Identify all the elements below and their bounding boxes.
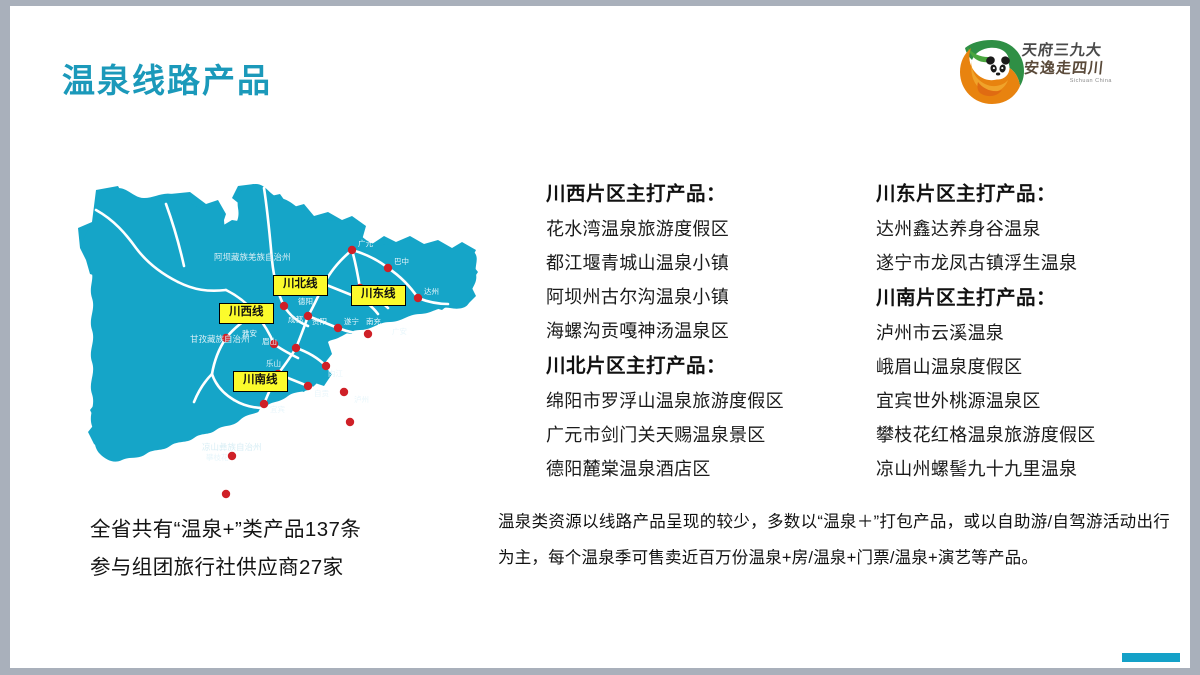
- svg-text:南充: 南充: [366, 316, 381, 326]
- logo-line-2: 安逸走四川: [1021, 59, 1115, 77]
- svg-text:广安: 广安: [392, 326, 407, 336]
- svg-text:眉山: 眉山: [262, 336, 277, 346]
- svg-text:宜宾: 宜宾: [270, 404, 285, 414]
- product-item: 阿坝州古尔沟温泉小镇: [546, 280, 846, 314]
- svg-text:凉山彝族自治州: 凉山彝族自治州: [202, 442, 262, 452]
- svg-text:泸州: 泸州: [354, 394, 369, 404]
- logo-english-text: Sichuan China: [1022, 77, 1114, 85]
- product-item: 遂宁市龙凤古镇浮生温泉: [876, 246, 1176, 280]
- product-lists: 川西片区主打产品： 花水湾温泉旅游度假区 都江堰青城山温泉小镇 阿坝州古尔沟温泉…: [546, 176, 1166, 486]
- panda-swirl-emblem-icon: [958, 38, 1026, 106]
- map-route-label-chuandong[interactable]: 川东线: [351, 285, 406, 306]
- section-heading-chuannan: 川南片区主打产品：: [876, 280, 1176, 316]
- product-item: 花水湾温泉旅游度假区: [546, 212, 846, 246]
- svg-text:达州: 达州: [424, 286, 439, 296]
- svg-text:德阳: 德阳: [298, 296, 313, 306]
- svg-text:成都: 成都: [288, 314, 303, 324]
- svg-text:遂宁: 遂宁: [344, 316, 359, 326]
- map-route-label-chuanxi[interactable]: 川西线: [219, 303, 274, 324]
- svg-text:资阳: 资阳: [312, 316, 327, 326]
- product-item: 海螺沟贡嘎神汤温泉区: [546, 314, 846, 348]
- stat-line-agencies: 参与组团旅行社供应商27家: [90, 549, 490, 587]
- product-item: 宜宾世外桃源温泉区: [876, 384, 1176, 418]
- map-route-label-chuanbei[interactable]: 川北线: [273, 275, 328, 296]
- page-title: 温泉线路产品: [62, 54, 272, 102]
- map-province-shape: [78, 184, 478, 462]
- product-item: 凉山州螺髻九十九里温泉: [876, 452, 1176, 486]
- svg-text:自贡: 自贡: [314, 388, 329, 398]
- product-item: 绵阳市罗浮山温泉旅游度假区: [546, 384, 846, 418]
- svg-text:内江: 内江: [328, 368, 343, 378]
- map-route-label-chuannan[interactable]: 川南线: [233, 371, 288, 392]
- product-item: 德阳麓棠温泉酒店区: [546, 452, 846, 486]
- product-item: 攀枝花红格温泉旅游度假区: [876, 418, 1176, 452]
- svg-text:巴中: 巴中: [394, 256, 409, 266]
- product-item: 达州鑫达养身谷温泉: [876, 212, 1176, 246]
- section-heading-chuandong: 川东片区主打产品：: [876, 176, 1176, 212]
- svg-text:阿坝藏族羌族自治州: 阿坝藏族羌族自治州: [214, 252, 291, 262]
- svg-text:攀枝花: 攀枝花: [206, 452, 229, 462]
- product-item: 泸州市云溪温泉: [876, 316, 1176, 350]
- logo-wordmark: 天府三九大 安逸走四川 Sichuan China: [1022, 42, 1114, 102]
- slide-canvas: 温泉线路产品 天府三九大: [10, 6, 1190, 668]
- brand-logo: 天府三九大 安逸走四川 Sichuan China: [950, 34, 1110, 112]
- svg-text:广元: 广元: [358, 238, 373, 248]
- stat-line-products: 全省共有“温泉+”类产品137条: [90, 511, 490, 549]
- product-item: 都江堰青城山温泉小镇: [546, 246, 846, 280]
- section-heading-chuanxi: 川西片区主打产品：: [546, 176, 846, 212]
- product-item: 广元市剑门关天赐温泉景区: [546, 418, 846, 452]
- statistics-block: 全省共有“温泉+”类产品137条 参与组团旅行社供应商27家: [90, 511, 490, 587]
- logo-line-1: 天府三九大: [1021, 42, 1115, 59]
- product-column-right: 川东片区主打产品： 达州鑫达养身谷温泉 遂宁市龙凤古镇浮生温泉 川南片区主打产品…: [876, 176, 1176, 486]
- svg-text:甘孜藏族自治州: 甘孜藏族自治州: [190, 334, 250, 344]
- svg-text:雅安: 雅安: [242, 328, 257, 338]
- product-column-left: 川西片区主打产品： 花水湾温泉旅游度假区 都江堰青城山温泉小镇 阿坝州古尔沟温泉…: [546, 176, 846, 486]
- footnote-paragraph: 温泉类资源以线路产品呈现的较少，多数以“温泉＋”打包产品，或以自助游/自驾游活动…: [498, 504, 1170, 576]
- svg-text:乐山: 乐山: [266, 358, 281, 368]
- section-heading-chuanbei: 川北片区主打产品：: [546, 348, 846, 384]
- sichuan-province-map: 阿坝藏族羌族自治州 甘孜藏族自治州 凉山彝族自治州 广元 巴中 达州 德阳 南充…: [66, 164, 496, 509]
- accent-bar: [1122, 653, 1180, 662]
- product-item: 峨眉山温泉度假区: [876, 350, 1176, 384]
